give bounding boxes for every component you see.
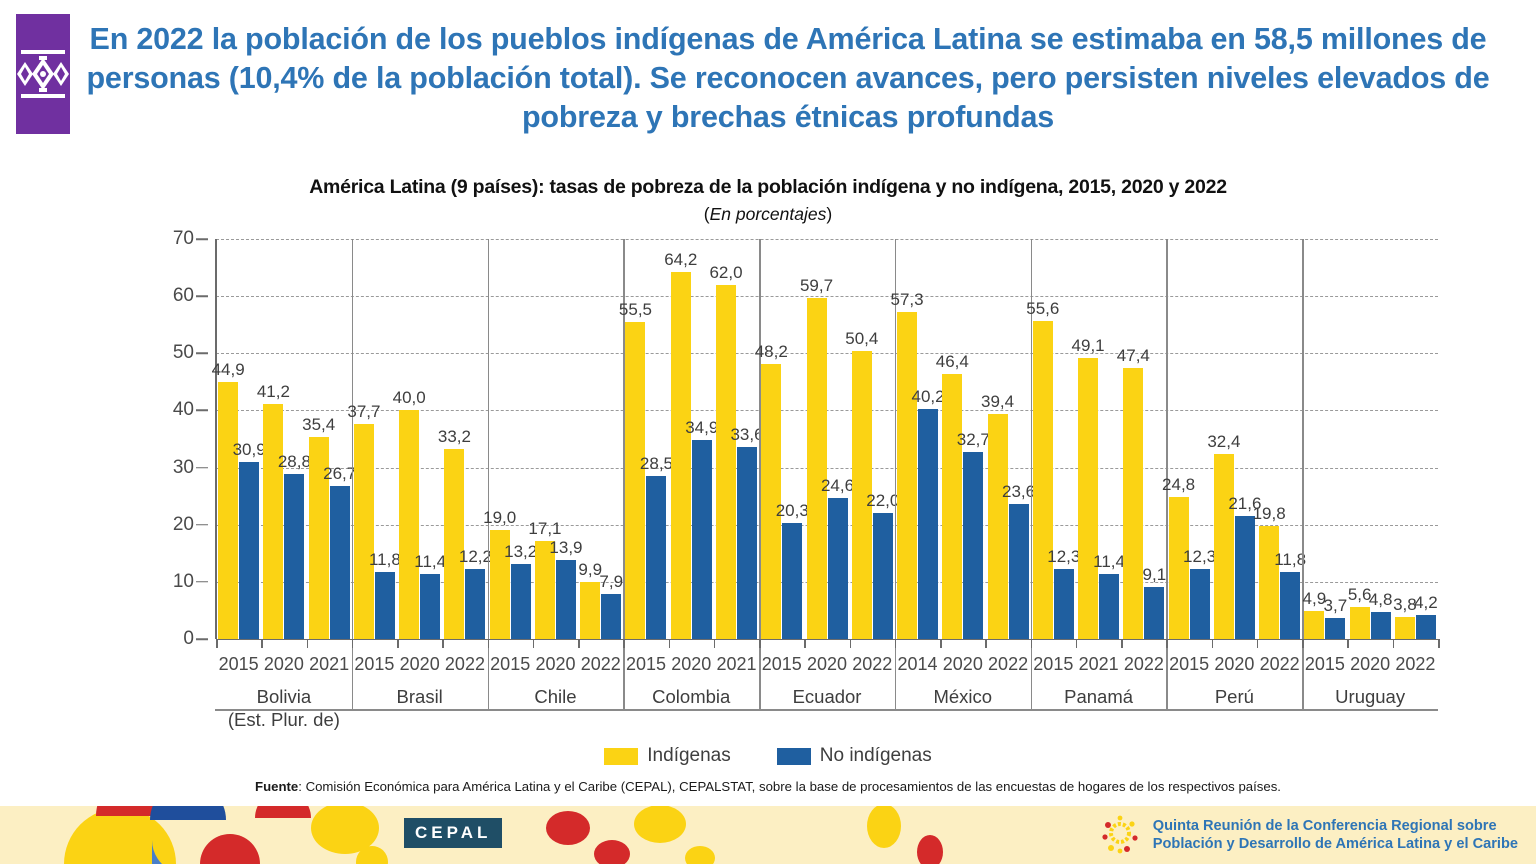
y-axis-tick-mark [196, 581, 208, 583]
bar-no-indigenas[interactable]: 26,7 [330, 486, 350, 639]
bar-value-label: 47,4 [1117, 346, 1150, 366]
year-bar-pair: 9,97,9 [578, 239, 623, 639]
year-bar-pair: 19,811,8 [1257, 239, 1302, 639]
x-axis-year-label: 2022 [578, 643, 623, 677]
bar-no-indigenas[interactable]: 11,4 [1099, 574, 1119, 639]
chart-subtitle-italic: En porcentajes [710, 204, 827, 224]
bar-value-label: 64,2 [664, 250, 697, 270]
chart-subtitle: (En porcentajes) [0, 204, 1536, 225]
bar-no-indigenas[interactable]: 22,0 [873, 513, 893, 639]
country-group-colombia: 55,528,564,234,962,033,6 [623, 239, 759, 639]
chart-title: América Latina (9 países): tasas de pobr… [0, 176, 1536, 199]
bar-no-indigenas[interactable]: 4,8 [1371, 612, 1391, 639]
x-axis-year-label: 2015 [352, 643, 397, 677]
bar-no-indigenas[interactable]: 28,5 [646, 476, 666, 639]
conference-title: Quinta Reunión de la Conferencia Regiona… [1153, 817, 1518, 853]
bar-indigenas[interactable]: 37,7 [354, 424, 374, 639]
year-bar-pair: 47,49,1 [1121, 239, 1166, 639]
conference-brand: Quinta Reunión de la Conferencia Regiona… [1099, 815, 1518, 855]
legend-item-noindgenas[interactable]: No indígenas [777, 745, 932, 767]
conference-title-line1: Quinta Reunión de la Conferencia Regiona… [1153, 817, 1518, 835]
year-bar-pair: 57,340,2 [895, 239, 940, 639]
bar-no-indigenas[interactable]: 34,9 [692, 440, 712, 639]
bar-indigenas[interactable]: 33,2 [444, 449, 464, 639]
year-label-group: 201520202022 [1166, 643, 1302, 677]
year-label-group: 201520202022 [759, 643, 895, 677]
y-axis: 010203040506070 [98, 239, 216, 639]
bar-value-label: 11,4 [414, 552, 446, 572]
country-group-mxico: 57,340,246,432,739,423,6 [895, 239, 1031, 639]
bar-no-indigenas[interactable]: 13,2 [511, 564, 531, 639]
year-bar-pair: 44,930,9 [216, 239, 261, 639]
x-axis-year-label: 2022 [985, 643, 1030, 677]
year-bar-pair: 41,228,8 [261, 239, 306, 639]
x-axis-year-label: 2021 [307, 643, 352, 677]
bar-indigenas[interactable]: 39,4 [988, 414, 1008, 639]
y-axis-tick-mark [196, 353, 208, 355]
bar-indigenas[interactable]: 5,6 [1350, 607, 1370, 639]
bar-no-indigenas[interactable]: 12,3 [1190, 569, 1210, 639]
bar-value-label: 39,4 [981, 392, 1014, 412]
x-axis-year-label: 2020 [1212, 643, 1257, 677]
country-name-line1: Brasil [352, 685, 488, 708]
country-group-uruguay: 4,93,75,64,83,84,2 [1302, 239, 1438, 639]
bar-no-indigenas[interactable]: 12,3 [1054, 569, 1074, 639]
country-group-brasil: 37,711,840,011,433,212,2 [352, 239, 488, 639]
x-axis-year-label: 2022 [850, 643, 895, 677]
year-bar-pair: 48,220,3 [759, 239, 804, 639]
x-axis-year-label: 2015 [488, 643, 533, 677]
bar-indigenas[interactable]: 62,0 [716, 285, 736, 639]
x-axis-year-label: 2021 [1076, 643, 1121, 677]
bar-no-indigenas[interactable]: 23,6 [1009, 504, 1029, 639]
x-axis-baseline [215, 709, 1438, 711]
bar-no-indigenas[interactable]: 3,7 [1325, 618, 1345, 639]
year-bar-pair: 59,724,6 [804, 239, 849, 639]
year-label-group: 201520202021 [623, 643, 759, 677]
bar-value-label: 3,7 [1324, 596, 1348, 616]
chart-bars-area: 44,930,941,228,835,426,737,711,840,011,4… [216, 239, 1438, 639]
year-bar-pair: 49,111,4 [1076, 239, 1121, 639]
year-bar-pair: 64,234,9 [669, 239, 714, 639]
bar-no-indigenas[interactable]: 21,6 [1235, 516, 1255, 639]
y-axis-tick-mark [196, 467, 208, 469]
x-axis-year-label: 2020 [533, 643, 578, 677]
x-axis-year-label: 2020 [397, 643, 442, 677]
x-axis-year-label: 2015 [1166, 643, 1211, 677]
bar-no-indigenas[interactable]: 28,8 [284, 474, 304, 639]
country-name-line1: Chile [488, 685, 624, 708]
bar-value-label: 19,8 [1253, 504, 1286, 524]
bar-value-label: 55,6 [1026, 299, 1059, 319]
year-bar-pair: 46,432,7 [940, 239, 985, 639]
y-axis-tick-mark [196, 524, 208, 526]
year-bar-pair: 19,013,2 [488, 239, 533, 639]
year-bar-pair: 17,113,9 [533, 239, 578, 639]
country-name-line1: Uruguay [1302, 685, 1438, 708]
bar-value-label: 19,0 [483, 508, 516, 528]
bar-indigenas[interactable]: 57,3 [897, 312, 917, 639]
bar-no-indigenas[interactable]: 20,3 [782, 523, 802, 639]
legend-label: No indígenas [820, 745, 932, 767]
year-label-group: 201420202022 [895, 643, 1031, 677]
bar-indigenas[interactable]: 49,1 [1078, 358, 1098, 639]
y-axis-tick-label: 0 [134, 628, 194, 650]
bar-value-label: 50,4 [845, 329, 878, 349]
bar-value-label: 55,5 [619, 300, 652, 320]
bar-value-label: 32,4 [1207, 432, 1240, 452]
y-axis-tick-mark [196, 295, 208, 297]
year-bar-pair: 24,812,3 [1166, 239, 1211, 639]
bar-value-label: 4,2 [1414, 593, 1438, 613]
year-bar-pair: 55,528,5 [623, 239, 668, 639]
bar-value-label: 37,7 [347, 402, 380, 422]
year-label-group: 201520212022 [1031, 643, 1167, 677]
year-bar-pair: 62,033,6 [714, 239, 759, 639]
country-name-line1: Perú [1166, 685, 1302, 708]
country-name-line1: México [895, 685, 1031, 708]
x-axis-year-label: 2022 [1393, 643, 1438, 677]
bar-indigenas[interactable]: 40,0 [399, 410, 419, 639]
year-bar-pair: 39,423,6 [985, 239, 1030, 639]
x-axis-year-label: 2020 [669, 643, 714, 677]
legend-swatch [604, 748, 638, 765]
y-axis-tick-label: 20 [134, 514, 194, 536]
x-axis-year-label: 2020 [940, 643, 985, 677]
year-label-group: 201520202021 [216, 643, 352, 677]
y-axis-tick-label: 50 [134, 342, 194, 364]
bar-no-indigenas[interactable]: 24,6 [828, 498, 848, 639]
bar-value-label: 49,1 [1072, 336, 1105, 356]
bar-value-label: 33,2 [438, 427, 471, 447]
bar-value-label: 44,9 [212, 360, 245, 380]
bar-no-indigenas[interactable]: 9,1 [1144, 587, 1164, 639]
x-axis-year-label: 2015 [623, 643, 668, 677]
x-axis-year-label: 2015 [1031, 643, 1076, 677]
country-name-line1: Colombia [623, 685, 759, 708]
bar-indigenas[interactable]: 47,4 [1123, 368, 1143, 639]
bar-no-indigenas[interactable]: 11,8 [375, 572, 395, 639]
bar-no-indigenas[interactable]: 11,4 [420, 574, 440, 639]
bar-indigenas[interactable]: 59,7 [807, 298, 827, 639]
cepal-logo: CEPAL [404, 818, 502, 848]
x-axis-year-labels: 2015202020212015202020222015202020222015… [216, 643, 1438, 677]
y-axis-tick-mark [196, 638, 208, 640]
bar-value-label: 59,7 [800, 276, 833, 296]
bar-indigenas[interactable]: 55,5 [625, 322, 645, 639]
bar-indigenas[interactable]: 19,8 [1259, 526, 1279, 639]
bar-indigenas[interactable]: 64,2 [671, 272, 691, 639]
conference-emblem-icon [1099, 815, 1141, 855]
slide-header: En 2022 la población de los pueblos indí… [0, 0, 1536, 170]
legend-swatch [777, 748, 811, 765]
country-group-bolivia: 44,930,941,228,835,426,7 [216, 239, 352, 639]
bar-indigenas[interactable]: 24,8 [1169, 497, 1189, 639]
bar-value-label: 48,2 [755, 342, 788, 362]
bar-no-indigenas[interactable]: 4,2 [1416, 615, 1436, 639]
legend-label: Indígenas [647, 745, 730, 767]
bar-no-indigenas[interactable]: 40,2 [918, 409, 938, 639]
x-axis-year-label: 2022 [1121, 643, 1166, 677]
bar-value-label: 11,8 [369, 550, 401, 570]
country-group-per: 24,812,332,421,619,811,8 [1166, 239, 1302, 639]
y-axis-tick-label: 40 [134, 399, 194, 421]
country-name-line1: Panamá [1031, 685, 1167, 708]
country-group-chile: 19,013,217,113,99,97,9 [488, 239, 624, 639]
y-axis-tick-label: 70 [134, 228, 194, 250]
indigenous-pattern-logo-icon [16, 14, 70, 134]
x-axis-tick-mark [1438, 639, 1440, 648]
y-axis-tick-mark [196, 238, 208, 240]
bar-no-indigenas[interactable]: 13,9 [556, 560, 576, 639]
x-axis-year-label: 2022 [1257, 643, 1302, 677]
bar-no-indigenas[interactable]: 11,8 [1280, 572, 1300, 639]
bar-no-indigenas[interactable]: 7,9 [601, 594, 621, 639]
country-group-panam: 55,612,349,111,447,49,1 [1031, 239, 1167, 639]
x-axis-year-label: 2020 [1348, 643, 1393, 677]
x-axis-year-label: 2015 [216, 643, 261, 677]
y-axis-tick-label: 10 [134, 571, 194, 593]
y-axis-tick-mark [196, 410, 208, 412]
source-label: Fuente [255, 779, 298, 794]
year-label-group: 201520202022 [488, 643, 624, 677]
bar-indigenas[interactable]: 4,9 [1304, 611, 1324, 639]
year-bar-pair: 3,84,2 [1393, 239, 1438, 639]
bar-indigenas[interactable]: 44,9 [218, 382, 238, 639]
bar-no-indigenas[interactable]: 33,6 [737, 447, 757, 639]
year-bar-pair: 35,426,7 [307, 239, 352, 639]
chart-plot-area: 010203040506070 44,930,941,228,835,426,7… [98, 239, 1438, 739]
country-group-ecuador: 48,220,359,724,650,422,0 [759, 239, 895, 639]
bar-value-label: 46,4 [936, 352, 969, 372]
bar-indigenas[interactable]: 3,8 [1395, 617, 1415, 639]
year-bar-pair: 55,612,3 [1031, 239, 1076, 639]
y-axis-tick-label: 60 [134, 285, 194, 307]
bar-value-label: 9,1 [1143, 565, 1167, 585]
bar-indigenas[interactable]: 46,4 [942, 374, 962, 639]
year-bar-pair: 4,93,7 [1302, 239, 1347, 639]
y-axis-tick-label: 30 [134, 457, 194, 479]
x-axis-year-label: 2015 [759, 643, 804, 677]
bar-value-label: 7,9 [599, 572, 623, 592]
x-axis-year-label: 2015 [1302, 643, 1347, 677]
bar-no-indigenas[interactable]: 32,7 [963, 452, 983, 639]
chart-subtitle-suffix: ) [826, 204, 832, 224]
bar-indigenas[interactable]: 32,4 [1214, 454, 1234, 639]
bar-value-label: 57,3 [890, 290, 923, 310]
country-name-line2: (Est. Plur. de) [216, 708, 352, 731]
slide-root: En 2022 la población de los pueblos indí… [0, 0, 1536, 864]
bar-value-label: 40,0 [393, 388, 426, 408]
year-label-group: 201520202022 [1302, 643, 1438, 677]
x-axis-year-label: 2020 [261, 643, 306, 677]
page-title: En 2022 la población de los pueblos indí… [70, 14, 1536, 137]
bar-indigenas[interactable]: 9,9 [580, 582, 600, 639]
conference-title-line2: Población y Desarrollo de América Latina… [1153, 835, 1518, 853]
bar-value-label: 24,8 [1162, 475, 1195, 495]
bar-value-label: 11,4 [1093, 552, 1125, 572]
bar-value-label: 17,1 [528, 519, 561, 539]
chart-legend: IndígenasNo indígenas [0, 745, 1536, 767]
country-name-line1: Bolivia [216, 685, 352, 708]
legend-item-indgenas[interactable]: Indígenas [604, 745, 730, 767]
bar-no-indigenas[interactable]: 12,2 [465, 569, 485, 639]
year-label-group: 201520202022 [352, 643, 488, 677]
country-name-line1: Ecuador [759, 685, 895, 708]
x-axis-year-label: 2022 [442, 643, 487, 677]
x-axis-year-label: 2014 [895, 643, 940, 677]
year-bar-pair: 32,421,6 [1212, 239, 1257, 639]
bar-indigenas[interactable]: 55,6 [1033, 321, 1053, 639]
source-note: Fuente: Comisión Económica para América … [0, 779, 1536, 794]
slide-footer: CEPAL Quinta Reunión de la Conferencia R… [0, 806, 1536, 864]
bar-indigenas[interactable]: 41,2 [263, 404, 283, 639]
bar-value-label: 4,8 [1369, 590, 1393, 610]
year-bar-pair: 50,422,0 [850, 239, 895, 639]
bar-value-label: 41,2 [257, 382, 290, 402]
x-axis-year-label: 2021 [714, 643, 759, 677]
year-bar-pair: 33,212,2 [442, 239, 487, 639]
bar-value-label: 35,4 [302, 415, 335, 435]
bar-no-indigenas[interactable]: 30,9 [239, 462, 259, 639]
source-text: : Comisión Económica para América Latina… [298, 779, 1281, 794]
year-bar-pair: 37,711,8 [352, 239, 397, 639]
bar-value-label: 62,0 [709, 263, 742, 283]
bar-value-label: 11,8 [1274, 550, 1306, 570]
year-bar-pair: 5,64,8 [1348, 239, 1393, 639]
x-axis-year-label: 2020 [804, 643, 849, 677]
year-bar-pair: 40,011,4 [397, 239, 442, 639]
